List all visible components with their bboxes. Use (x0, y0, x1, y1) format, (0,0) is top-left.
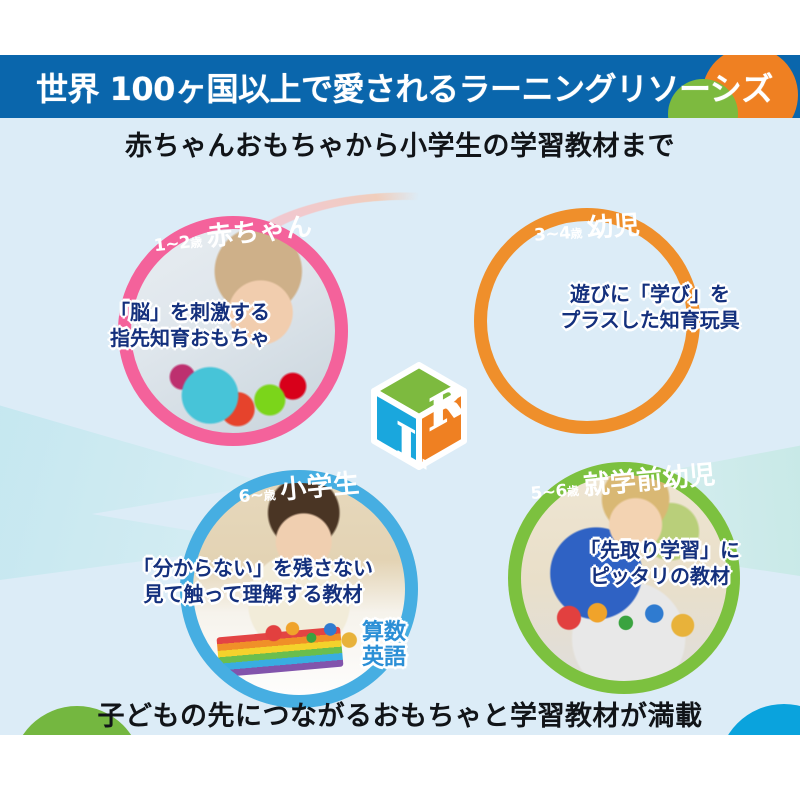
footer-tagline-emphasis: 先 (208, 701, 236, 732)
segment-age-unit-baby: 歳 (190, 235, 203, 250)
segment-age-range-preschool: 5~6 (530, 481, 568, 504)
footer-tagline-part2: につながるおもちゃと学習教材が満載 (235, 701, 703, 732)
segment-age-range-elementary: 6~ (238, 485, 265, 507)
subject-badge-line1: 算数 (344, 620, 424, 645)
poster-root: 世界 100ヶ国以上で愛されるラーニングリソーシズ 赤ちゃんおもちゃから小学生の… (0, 0, 800, 800)
footer-tagline: 子どもの先につながるおもちゃと学習教材が満載 (0, 694, 800, 733)
segment-age-unit-preschool: 歳 (566, 484, 579, 499)
brand-logo-cube-icon[interactable]: L R (370, 362, 468, 470)
segment-age-range-toddler: 3~4 (533, 223, 571, 245)
segment-caption-line2-toddler: プラスした知育玩具 (500, 308, 800, 334)
segment-caption-line2-baby: 指先知育おもちゃ (40, 326, 340, 352)
bottom-white-strip (0, 735, 800, 800)
subject-badge-line2: 英語 (344, 645, 424, 670)
segment-caption-line1-toddler: 遊びに「学び」を (500, 282, 800, 308)
subtitle: 赤ちゃんおもちゃから小学生の学習教材まで (0, 124, 800, 163)
subject-badge-elementary: 算数 英語 (344, 620, 424, 671)
segment-age-unit-elementary: 歳 (263, 488, 276, 503)
header-banner: 世界 100ヶ国以上で愛されるラーニングリソーシズ (0, 55, 800, 118)
segment-caption-elementary: 「分からない」を残さない 見て触って理解する教材 (98, 556, 408, 607)
segment-caption-line2-preschool: ピッタリの教材 (520, 564, 800, 590)
segment-caption-line1-elementary: 「分からない」を残さない (98, 556, 408, 582)
segment-age-unit-toddler: 歳 (570, 226, 583, 241)
segment-caption-preschool: 「先取り学習」に ピッタリの教材 (520, 538, 800, 589)
banner-title: 世界 100ヶ国以上で愛されるラーニングリソーシズ (36, 55, 773, 118)
segment-caption-line2-elementary: 見て触って理解する教材 (98, 582, 408, 608)
segment-caption-toddler: 遊びに「学び」を プラスした知育玩具 (500, 282, 800, 333)
segment-caption-line1-preschool: 「先取り学習」に (520, 538, 800, 564)
segment-caption-baby: 「脳」を刺激する 指先知育おもちゃ (40, 300, 340, 351)
snap-cubes-graphic (550, 601, 708, 643)
segment-caption-line1-baby: 「脳」を刺激する (40, 300, 340, 326)
segment-age-word-toddler: 幼児 (586, 210, 641, 244)
segment-age-range-baby: 1~2 (153, 233, 191, 257)
footer-tagline-part1: 子どもの (98, 701, 208, 732)
